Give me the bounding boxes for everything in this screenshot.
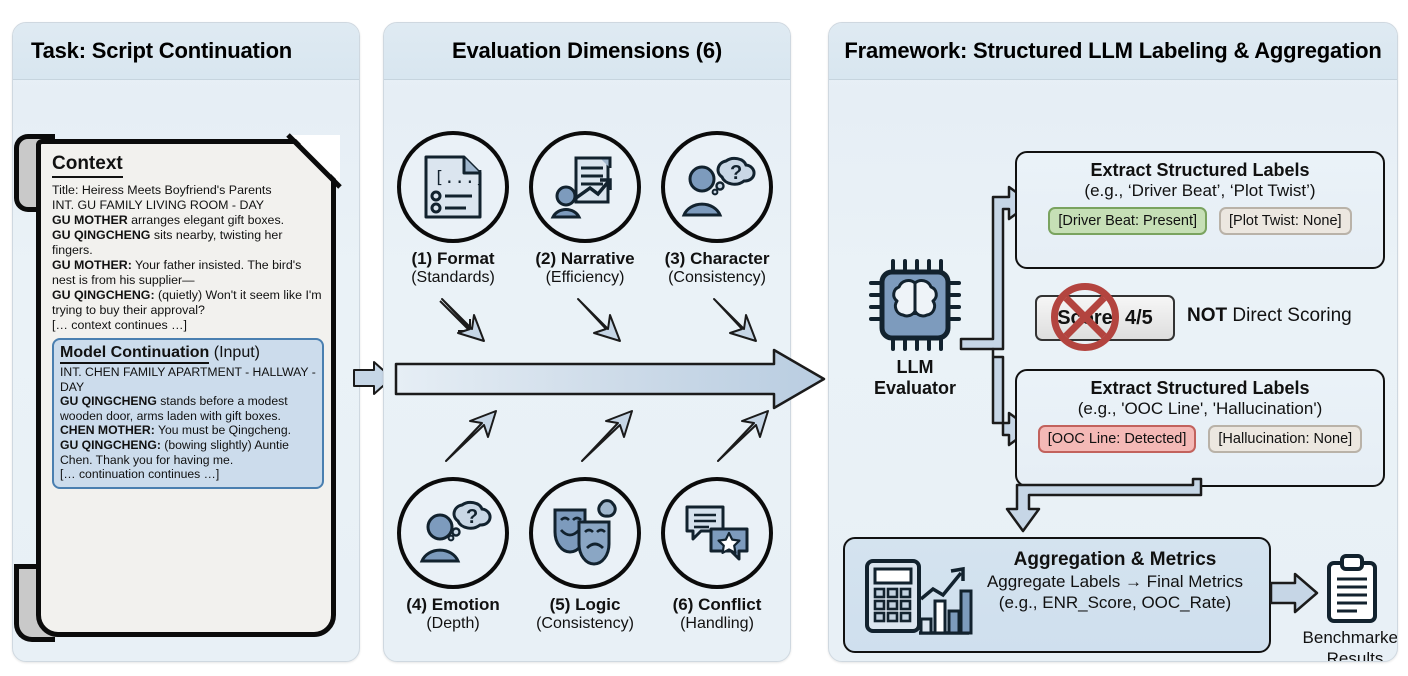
aggregation-line2: (e.g., ENR_Score, OOC_Rate) — [961, 592, 1269, 613]
script-line: Title: Heiress Meets Boyfriend's Parents — [52, 183, 324, 198]
model-continuation-lines: INT. CHEN FAMILY APARTMENT - HALLWAY - D… — [60, 365, 316, 482]
diagram-canvas: Task: Script Continuation Context Title:… — [0, 0, 1408, 676]
script-line-text: You must be Qingcheng. — [155, 423, 291, 437]
script-line-speaker: GU QINGCHENG: — [60, 438, 161, 452]
arrow-aggregation-to-results-icon — [1269, 571, 1319, 615]
benchmarked-results-line2: Results — [1285, 648, 1398, 662]
script-line-text: [… context continues …] — [52, 318, 187, 332]
aggregation-line1: Aggregate Labels → Final Metrics — [961, 571, 1269, 592]
speech-bubbles-icon — [661, 477, 773, 589]
extract-labels-top-title: Extract Structured Labels — [1017, 160, 1383, 181]
document-checklist-icon: [...] — [397, 131, 509, 243]
person-emotion-icon: ? — [397, 477, 509, 589]
dimension-label-line2: (Handling) — [658, 615, 776, 633]
panel-dimensions-header: Evaluation Dimensions (6) — [384, 23, 790, 80]
panel-dimensions: Evaluation Dimensions (6) [...] (1) F — [383, 22, 791, 662]
dimension-label-line1: (6) Conflict — [658, 595, 776, 615]
script-line-text: arranges elegant gift boxes. — [128, 213, 284, 227]
context-document-content: Context Title: Heiress Meets Boyfriend's… — [52, 153, 324, 627]
svg-text:?: ? — [466, 506, 478, 528]
not-direct-scoring-bold: NOT — [1187, 305, 1227, 326]
svg-text:[...]: [...] — [434, 168, 485, 188]
extract-labels-bottom-subtitle: (e.g., 'OOC Line', 'Hallucination') — [1017, 399, 1383, 419]
panel-dimensions-title: Evaluation Dimensions (6) — [452, 38, 722, 64]
script-line: GU QINGCHENG: (quietly) Won't it seem li… — [52, 288, 324, 318]
script-line: [… context continues …] — [52, 318, 324, 333]
script-line-speaker: GU QINGCHENG — [52, 228, 150, 242]
dimension-item-format[interactable]: [...] (1) Format (Standards) — [394, 131, 512, 287]
dimension-label-line2: (Efficiency) — [526, 269, 644, 287]
model-continuation-heading-main: Model Continuation — [60, 344, 209, 364]
script-line-speaker: GU MOTHER: — [52, 258, 132, 272]
script-line: GU QINGCHENG: (bowing slightly) Auntie C… — [60, 438, 316, 467]
no-entry-icon — [1051, 283, 1119, 351]
dimension-label-line2: (Standards) — [394, 269, 512, 287]
script-line: GU QINGCHENG stands before a modest wood… — [60, 394, 316, 423]
panel-framework-title: Framework: Structured LLM Labeling & Agg… — [844, 38, 1381, 64]
script-line-text: INT. CHEN FAMILY APARTMENT - HALLWAY - D… — [60, 365, 316, 394]
arrow-up-right-1-icon — [444, 409, 504, 465]
script-line: GU QINGCHENG sits nearby, twisting her f… — [52, 228, 324, 258]
context-heading: Context — [52, 153, 123, 178]
extract-labels-bottom-title: Extract Structured Labels — [1017, 378, 1383, 399]
model-continuation-heading: Model Continuation (Input) — [60, 344, 316, 362]
dimension-label-line2: (Depth) — [394, 615, 512, 633]
script-line-speaker: GU QINGCHENG: — [52, 288, 155, 302]
script-line: INT. GU FAMILY LIVING ROOM - DAY — [52, 198, 324, 213]
dimension-label-line1: (4) Emotion — [394, 595, 512, 615]
benchmarked-results-line1: Benchmarked — [1285, 627, 1398, 648]
panel-task: Task: Script Continuation Context Title:… — [12, 22, 360, 662]
not-direct-scoring-rest: Direct Scoring — [1227, 305, 1352, 326]
brain-chip-icon — [867, 257, 963, 353]
dimension-item-emotion[interactable]: ? (4) Emotion (Depth) — [394, 477, 512, 633]
not-direct-scoring-label: NOT Direct Scoring — [1187, 305, 1352, 327]
panel-task-body: Context Title: Heiress Meets Boyfriend's… — [13, 79, 359, 661]
arrow-dimensions-to-evaluator-icon — [396, 348, 826, 410]
extract-labels-bottom-chips: [OOC Line: Detected] [Hallucination: Non… — [1017, 425, 1383, 453]
script-line: GU MOTHER: Your father insisted. The bir… — [52, 258, 324, 288]
chip-hallucination[interactable]: [Hallucination: None] — [1208, 425, 1362, 453]
dimension-item-character[interactable]: ? (3) Character (Consistency) — [658, 131, 776, 287]
arrow-labels-to-aggregation-icon — [995, 477, 1225, 541]
model-continuation-heading-suffix: (Input) — [209, 344, 260, 361]
extract-labels-top-chips: [Driver Beat: Present] [Plot Twist: None… — [1017, 207, 1383, 235]
svg-text:?: ? — [730, 162, 742, 184]
extract-labels-top-subtitle: (e.g., ‘Driver Beat’, ‘Plot Twist’) — [1017, 181, 1383, 201]
chip-driver-beat[interactable]: [Driver Beat: Present] — [1048, 207, 1207, 235]
script-line-text: INT. GU FAMILY LIVING ROOM - DAY — [52, 198, 264, 212]
dimension-label-line1: (5) Logic — [526, 595, 644, 615]
dimension-label-line2: (Consistency) — [526, 615, 644, 633]
script-line: [… continuation continues …] — [60, 467, 316, 482]
dimension-label-line1: (2) Narrative — [526, 249, 644, 269]
script-line: CHEN MOTHER: You must be Qingcheng. — [60, 423, 316, 438]
dimension-label-line1: (1) Format — [394, 249, 512, 269]
theatre-masks-icon — [529, 477, 641, 589]
model-continuation-box: Model Continuation (Input) INT. CHEN FAM… — [52, 338, 324, 489]
context-document-card: Context Title: Heiress Meets Boyfriend's… — [36, 139, 336, 637]
arrow-up-right-2-icon — [580, 409, 640, 465]
dimension-label-line2: (Consistency) — [658, 269, 776, 287]
chip-ooc-line[interactable]: [OOC Line: Detected] — [1038, 425, 1197, 453]
context-script-lines: Title: Heiress Meets Boyfriend's Parents… — [52, 183, 324, 333]
dimension-item-conflict[interactable]: (6) Conflict (Handling) — [658, 477, 776, 633]
calculator-chart-icon — [863, 557, 973, 637]
benchmarked-results-label: Benchmarked Results — [1285, 627, 1398, 662]
script-line-speaker: GU MOTHER — [52, 213, 128, 227]
panel-task-title: Task: Script Continuation — [31, 38, 292, 64]
script-line: GU MOTHER arranges elegant gift boxes. — [52, 213, 324, 228]
dimension-item-narrative[interactable]: (2) Narrative (Efficiency) — [526, 131, 644, 287]
script-line: INT. CHEN FAMILY APARTMENT - HALLWAY - D… — [60, 365, 316, 394]
extract-labels-bottom-box[interactable]: Extract Structured Labels (e.g., 'OOC Li… — [1015, 369, 1385, 487]
chip-plot-twist[interactable]: [Plot Twist: None] — [1219, 207, 1352, 235]
script-line-text: [… continuation continues …] — [60, 467, 219, 481]
panel-framework-body: LLM Evaluator Extract Structured Labels … — [829, 79, 1397, 661]
panel-task-header: Task: Script Continuation — [13, 23, 359, 80]
person-thinking-icon: ? — [661, 131, 773, 243]
script-line-speaker: GU QINGCHENG — [60, 394, 157, 408]
dimension-label-line1: (3) Character — [658, 249, 776, 269]
clipboard-icon — [1323, 553, 1381, 625]
narrative-growth-icon — [529, 131, 641, 243]
script-line-text: Title: Heiress Meets Boyfriend's Parents — [52, 183, 272, 197]
arrow-up-right-3-icon — [716, 409, 776, 465]
panel-framework-header: Framework: Structured LLM Labeling & Agg… — [829, 23, 1397, 80]
aggregation-title: Aggregation & Metrics — [961, 549, 1269, 571]
aggregation-metrics-box[interactable]: Aggregation & Metrics Aggregate Labels →… — [843, 537, 1271, 653]
panel-framework: Framework: Structured LLM Labeling & Agg… — [828, 22, 1398, 662]
script-line-speaker: CHEN MOTHER: — [60, 423, 155, 437]
dimension-item-logic[interactable]: (5) Logic (Consistency) — [526, 477, 644, 633]
extract-labels-top-box[interactable]: Extract Structured Labels (e.g., ‘Driver… — [1015, 151, 1385, 269]
